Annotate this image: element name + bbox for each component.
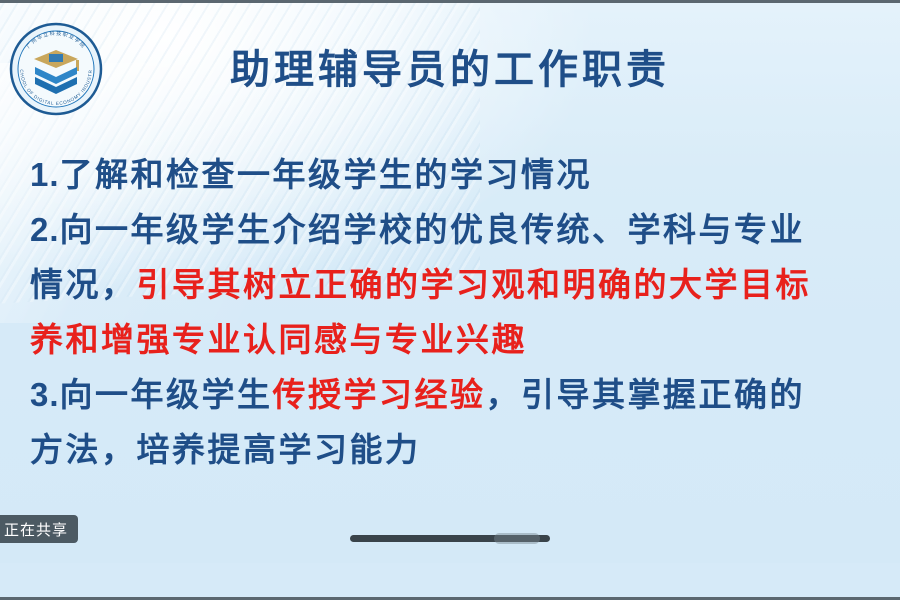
screen-share-viewport: 广州华立科技职业学院 SCHOOL OF DIGITAL ECONOMY IND… <box>0 0 900 600</box>
body-line-6: 方法，培养提高学习能力 <box>30 422 900 477</box>
school-emblem-logo: 广州华立科技职业学院 SCHOOL OF DIGITAL ECONOMY IND… <box>8 21 104 117</box>
presentation-slide: 广州华立科技职业学院 SCHOOL OF DIGITAL ECONOMY IND… <box>0 3 900 563</box>
slide-title: 助理辅导员的工作职责 <box>0 37 900 95</box>
line-1-segment-1: 了解和检查一年级学生的学习情况 <box>60 156 593 193</box>
slide-body: 1.了解和检查一年级学生的学习情况 2.向一年级学生介绍学校的优良传统、学科与专… <box>30 147 900 477</box>
body-line-2: 2.向一年级学生介绍学校的优良传统、学科与专业 <box>30 202 900 257</box>
line-3-segment-1: 情况， <box>30 266 137 303</box>
list-number-2: 2. <box>30 211 60 248</box>
body-line-3: 情况，引导其树立正确的学习观和明确的大学目标 <box>30 257 900 312</box>
body-line-4: 养和增强专业认同感与专业兴趣 <box>30 312 900 367</box>
list-number-1: 1. <box>30 156 60 193</box>
sharing-status-label: 正在共享 <box>4 519 68 540</box>
line-3-segment-2: 引导其树立正确的学习观和明确的大学目标 <box>137 266 812 303</box>
body-line-1: 1.了解和检查一年级学生的学习情况 <box>30 147 900 202</box>
home-indicator-bar[interactable] <box>350 535 550 542</box>
line-6-segment-1: 方法，培养提高学习能力 <box>30 431 421 468</box>
line-5-segment-2: 传授学习经验 <box>273 376 486 413</box>
viewport-top-edge <box>0 0 900 3</box>
screen-sharing-badge[interactable]: 正在共享 <box>0 515 78 543</box>
line-2-segment-1: 向一年级学生介绍学校的优良传统、学科与专业 <box>60 211 806 248</box>
body-line-5: 3.向一年级学生传授学习经验，引导其掌握正确的 <box>30 367 900 422</box>
line-5-segment-3: ，引导其掌握正确的 <box>486 376 806 413</box>
line-4-segment-1: 养和增强专业认同感与专业兴趣 <box>30 321 527 358</box>
line-5-segment-1: 向一年级学生 <box>60 376 273 413</box>
list-number-3: 3. <box>30 376 60 413</box>
